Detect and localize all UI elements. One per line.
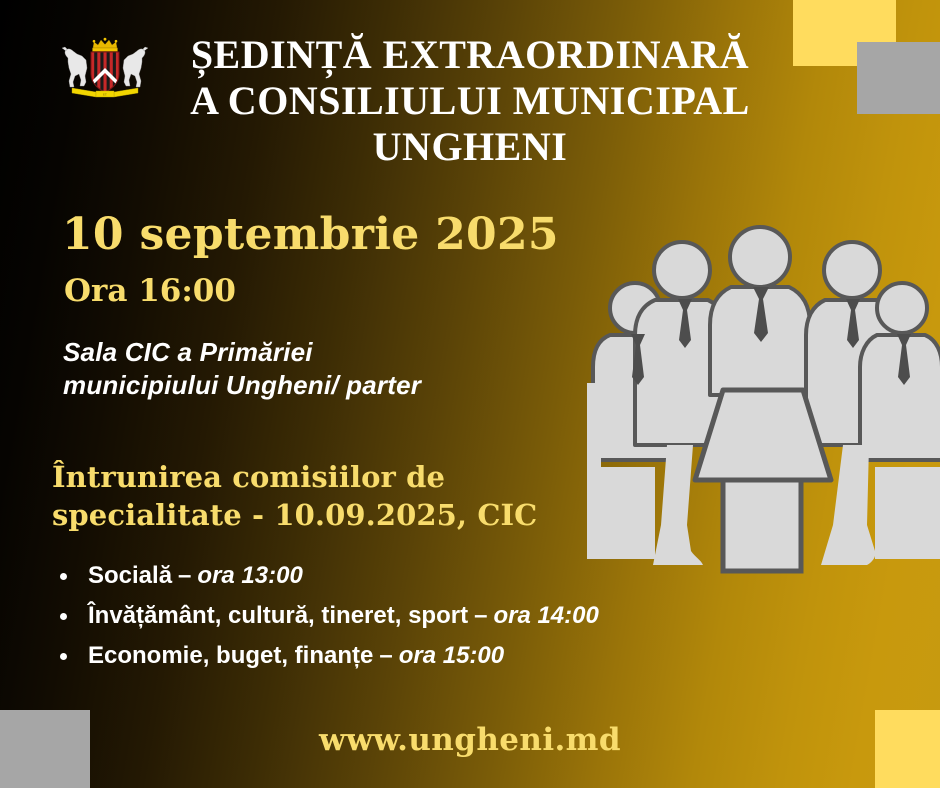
event-hour: Ora 16:00 xyxy=(64,272,236,310)
bullet-icon xyxy=(60,653,67,660)
council-meeting-illustration xyxy=(575,195,940,585)
decorative-block-top-gray xyxy=(857,42,940,114)
svg-text:ET: ET xyxy=(103,93,107,97)
bullet-icon xyxy=(60,573,67,580)
list-item: Economie, buget, finanțe–ora 15:00 xyxy=(54,638,834,673)
title-line-2: A CONSILIULUI MUNICIPAL xyxy=(170,78,770,124)
title-line-1: ȘEDINȚĂ EXTRAORDINARĂ xyxy=(170,32,770,78)
shield-icon xyxy=(91,52,119,92)
commission-time: ora 13:00 xyxy=(197,562,302,589)
event-date: 10 septembrie 2025 xyxy=(62,210,559,260)
crown-icon xyxy=(93,38,118,51)
bullet-icon xyxy=(60,613,67,620)
commission-separator: – xyxy=(379,642,392,669)
venue-line-1: Sala CIC a Primăriei xyxy=(63,336,533,369)
title-line-3: UNGHENI xyxy=(170,124,770,170)
table-pedestal xyxy=(723,475,801,571)
commissions-heading-line-1: Întrunirea comisiilor de xyxy=(52,458,592,496)
ungheni-coat-of-arms-icon: ET xyxy=(60,32,150,100)
page-title: ȘEDINȚĂ EXTRAORDINARĂ A CONSILIULUI MUNI… xyxy=(170,32,770,170)
commission-separator: – xyxy=(178,562,191,589)
commission-name: Economie, buget, finanțe xyxy=(88,642,373,669)
commission-time: ora 15:00 xyxy=(399,642,504,669)
meeting-announcement-poster: ET ȘEDINȚĂ EXTRAORDINARĂ A CONSILIULUI M… xyxy=(0,0,940,788)
website-url[interactable]: www.ungheni.md xyxy=(0,722,940,758)
commissions-heading-line-2: specialitate - 10.09.2025, CIC xyxy=(52,496,592,534)
commission-name: Socială xyxy=(88,562,172,589)
venue-line-2: municipiului Ungheni/ parter xyxy=(63,369,533,402)
commission-name: Învățământ, cultură, tineret, sport xyxy=(88,602,468,629)
list-item: Învățământ, cultură, tineret, sport–ora … xyxy=(54,598,834,633)
commission-time: ora 14:00 xyxy=(493,602,598,629)
commissions-heading: Întrunirea comisiilor de specialitate - … xyxy=(52,458,592,534)
commission-separator: – xyxy=(474,602,487,629)
event-venue: Sala CIC a Primăriei municipiului Unghen… xyxy=(63,336,533,402)
